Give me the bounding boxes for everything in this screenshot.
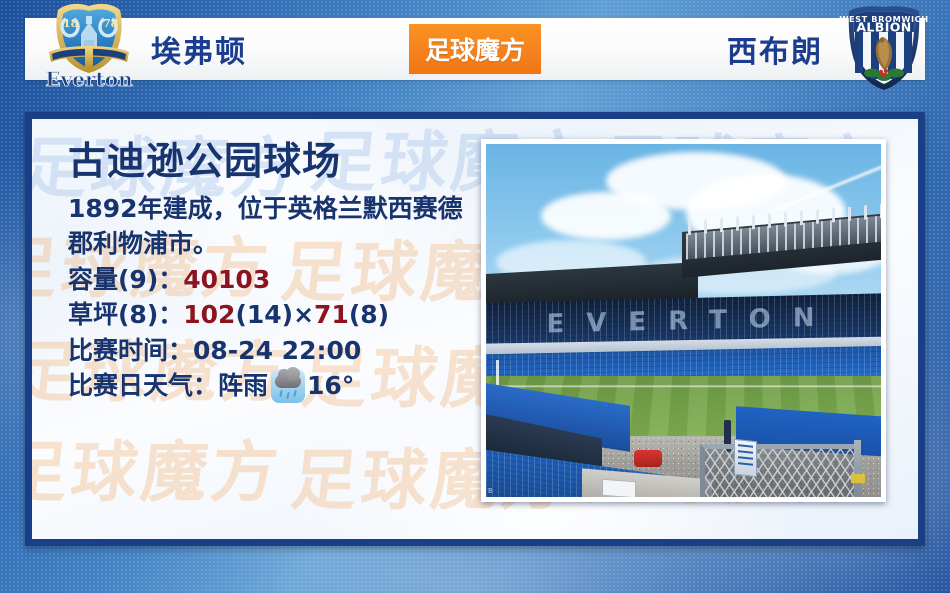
photo-fence-post bbox=[854, 440, 861, 497]
weather-condition: 阵雨 bbox=[218, 368, 268, 404]
pitch-length-rating: (14) bbox=[235, 300, 293, 329]
stadium-title: 古迪逊公园球场 bbox=[68, 141, 498, 183]
everton-crest-icon: 18 78 Everton bbox=[41, 0, 137, 92]
pitch-label: 草坪(8)： bbox=[68, 300, 183, 329]
svg-text:Everton: Everton bbox=[45, 67, 133, 91]
home-team-block[interactable]: 18 78 Everton 埃弗顿 bbox=[25, 6, 409, 92]
stadium-description: 1892年建成，位于英格兰默西赛德郡利物浦市。 bbox=[68, 191, 468, 262]
match-time-value: 08-24 22:00 bbox=[193, 336, 361, 365]
home-team-name: 埃弗顿 bbox=[151, 27, 247, 71]
capacity-row: 容量(9)：40103 bbox=[68, 262, 498, 298]
photo-red-hose-reel bbox=[634, 450, 662, 467]
pitch-width-value: 71 bbox=[314, 300, 349, 329]
photo-sign-board bbox=[734, 439, 757, 477]
svg-text:ALBION: ALBION bbox=[856, 20, 911, 35]
photo-notice-sign bbox=[602, 479, 636, 497]
west-bromwich-albion-crest-icon: WEST BROMWICH ALBION bbox=[839, 1, 929, 93]
rain-cloud-icon bbox=[271, 369, 305, 403]
goodison-park-photo: EVERTON bbox=[486, 144, 881, 497]
stadium-photo-frame[interactable]: EVERTON bbox=[481, 139, 886, 502]
photo-credit: B bbox=[488, 487, 493, 495]
weather-temperature: 16° bbox=[307, 368, 354, 404]
photo-mesh-fence bbox=[700, 444, 860, 497]
capacity-label: 容量(9)： bbox=[68, 265, 183, 294]
site-logo[interactable]: 足球魔方 bbox=[409, 24, 541, 74]
pitch-size-separator: × bbox=[293, 300, 314, 329]
stadium-info-text: 古迪逊公园球场 1892年建成，位于英格兰默西赛德郡利物浦市。 容量(9)：40… bbox=[68, 141, 498, 404]
match-time-label: 比赛时间： bbox=[68, 336, 193, 365]
capacity-value: 40103 bbox=[183, 265, 270, 294]
page-root: 18 78 Everton 埃弗顿 足球魔方 西布朗 bbox=[0, 0, 950, 593]
pitch-width-rating: (8) bbox=[349, 300, 389, 329]
photo-yellow-marker bbox=[851, 474, 865, 483]
pitch-length-value: 102 bbox=[183, 300, 235, 329]
away-team-block[interactable]: 西布朗 WEST BROMWICH ALBION bbox=[541, 5, 925, 93]
match-weather-row: 比赛日天气：阵雨 16° bbox=[68, 368, 498, 404]
match-time-row: 比赛时间：08-24 22:00 bbox=[68, 333, 498, 369]
weather-label: 比赛日天气： bbox=[68, 368, 218, 404]
svg-text:78: 78 bbox=[103, 17, 119, 30]
photo-goalpost bbox=[496, 360, 499, 386]
svg-text:18: 18 bbox=[63, 17, 79, 30]
watermark: 足球魔方 bbox=[32, 419, 287, 515]
away-team-name: 西布朗 bbox=[727, 27, 823, 71]
pitch-size-row: 草坪(8)：102(14)×71(8) bbox=[68, 297, 498, 333]
match-header-bar: 18 78 Everton 埃弗顿 足球魔方 西布朗 bbox=[25, 18, 925, 80]
